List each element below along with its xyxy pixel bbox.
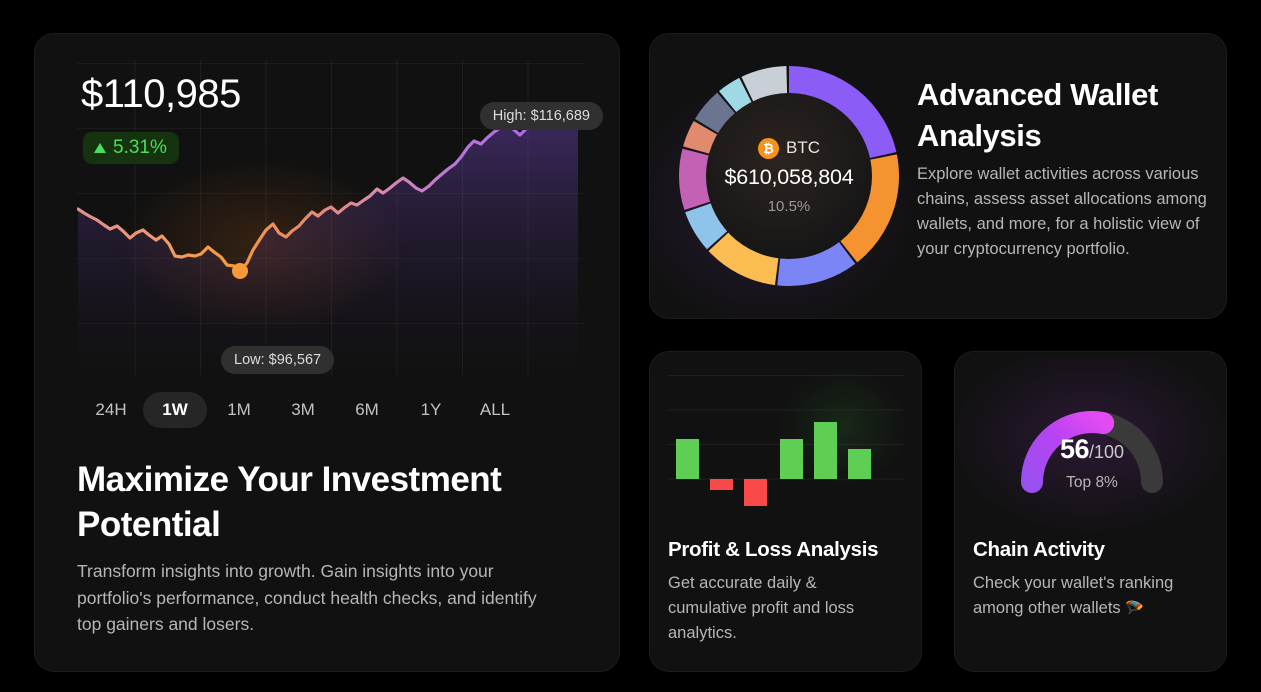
price-change-badge: 5.31% [83,132,179,164]
range-button-3m[interactable]: 3M [271,392,335,428]
asset-row: ₿ BTC [758,138,820,159]
wallet-analysis-card: ₿ BTC $610,058,804 10.5% Advanced Wallet… [649,33,1227,319]
range-button-all[interactable]: ALL [463,392,527,428]
profit-loss-card: Profit & Loss Analysis Get accurate dail… [649,351,922,672]
wallet-description: Explore wallet activities across various… [917,162,1209,262]
range-button-1m[interactable]: 1M [207,392,271,428]
gauge-rank: Top 8% [1007,474,1177,492]
donut-center-label: ₿ BTC $610,058,804 10.5% [706,93,872,259]
investment-description: Transform insights into growth. Gain ins… [77,558,552,638]
bar-3 [744,479,767,506]
low-price-tooltip: Low: $96,567 [221,346,334,374]
investment-headline: Maximize Your Investment Potential [77,458,557,548]
investment-card: $110,985 5.31% High: $116,689 Low: $96,5… [34,33,620,672]
pnl-description: Get accurate daily & cumulative profit a… [668,571,883,645]
time-range-selector: 24H 1W 1M 3M 6M 1Y ALL [79,392,527,428]
asset-amount: $610,058,804 [724,165,853,190]
price-value: $110,985 [81,72,241,117]
bar-6 [848,449,871,479]
arrow-up-icon [94,143,106,153]
range-button-1y[interactable]: 1Y [399,392,463,428]
page-root: $110,985 5.31% High: $116,689 Low: $96,5… [0,0,1261,692]
price-change-value: 5.31% [113,138,167,157]
chain-description: Check your wallet's ranking among other … [973,571,1198,621]
pnl-title: Profit & Loss Analysis [668,538,878,562]
bar-4 [780,439,803,479]
wallet-title: Advanced Wallet Analysis [917,74,1202,156]
parachute-icon: 🪂 [1125,600,1144,617]
bar-5 [814,422,837,479]
asset-percent: 10.5% [768,198,811,215]
allocation-donut-chart[interactable]: ₿ BTC $610,058,804 10.5% [674,61,904,291]
profit-loss-chart[interactable] [668,367,905,510]
gauge-total: /100 [1089,442,1124,462]
bars-svg [668,367,905,510]
chain-title: Chain Activity [973,538,1105,562]
chain-score-gauge[interactable]: 56/100 Top 8% [1007,382,1177,502]
low-point-marker [232,263,248,279]
high-price-tooltip: High: $116,689 [480,102,603,130]
asset-symbol: BTC [786,138,820,158]
range-button-24h[interactable]: 24H [79,392,143,428]
bar-1 [676,439,699,479]
range-button-6m[interactable]: 6M [335,392,399,428]
bitcoin-icon: ₿ [758,138,779,159]
bar-2 [710,479,733,490]
gauge-readout: 56/100 Top 8% [1007,434,1177,492]
gauge-score: 56 [1060,434,1089,464]
range-button-1w[interactable]: 1W [143,392,207,428]
chain-activity-card: 56/100 Top 8% Chain Activity Check your … [954,351,1227,672]
